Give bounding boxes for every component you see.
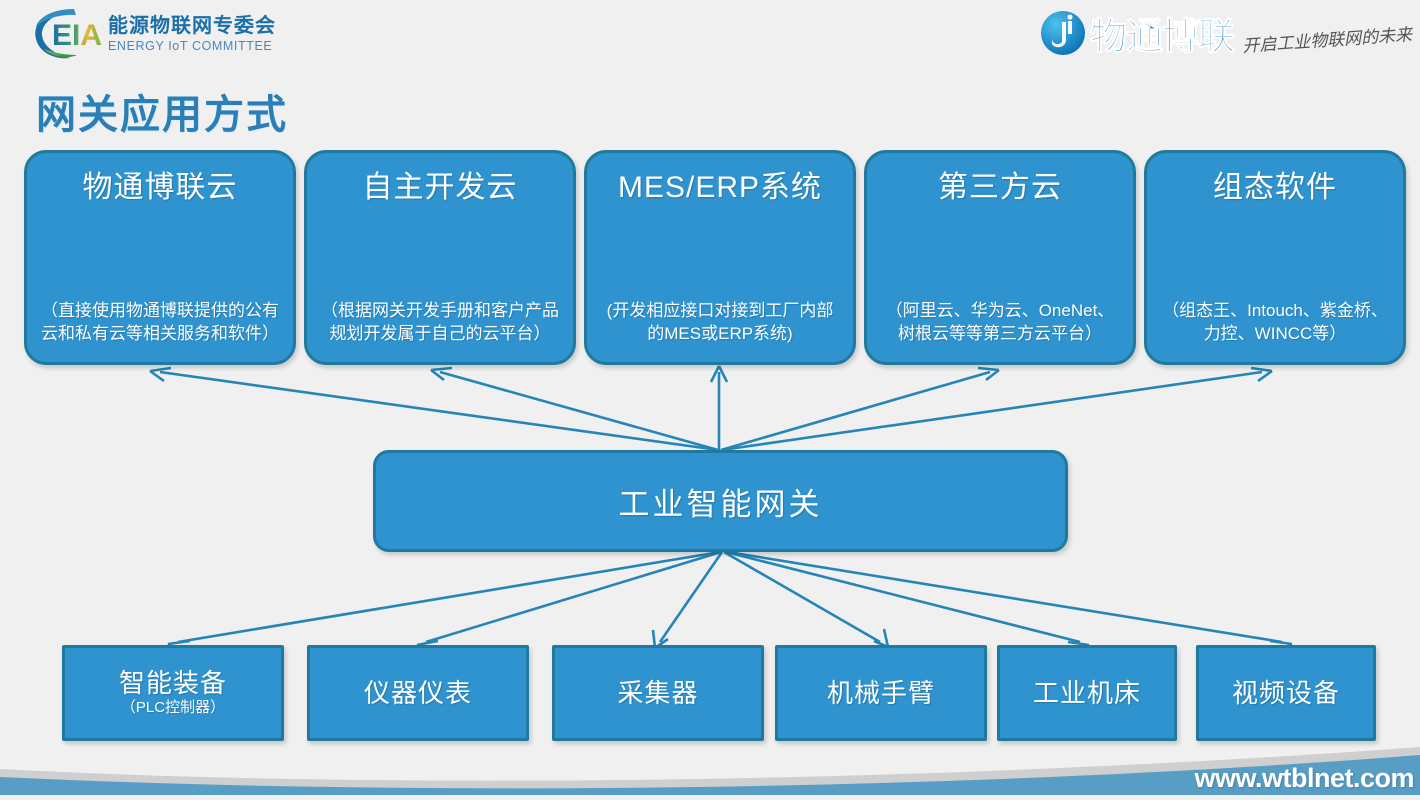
device-video-equipment[interactable]: 视频设备	[1196, 645, 1376, 741]
card-title: 第三方云	[938, 171, 1062, 206]
card-body: （根据网关开发手册和客户产品规划开发属于自己的云平台）	[315, 300, 565, 348]
gateway-application-diagram: 物通博联云 （直接使用物通博联提供的公有云和私有云等相关服务和软件） 自主开发云…	[0, 0, 1420, 795]
card-mes-erp-system[interactable]: MES/ERP系统 (开发相应接口对接到工厂内部的MES或ERP系统)	[584, 150, 856, 365]
card-body: （直接使用物通博联提供的公有云和私有云等相关服务和软件）	[35, 300, 285, 348]
center-node-industrial-gateway[interactable]: 工业智能网关	[373, 450, 1068, 552]
device-title: 工业机床	[1033, 679, 1141, 708]
footer-website-url: www.wtblnet.com	[1194, 763, 1414, 794]
card-title: 自主开发云	[363, 171, 518, 206]
device-data-collector[interactable]: 采集器	[552, 645, 764, 741]
device-smart-equipment[interactable]: 智能装备 （PLC控制器）	[62, 645, 284, 741]
device-instruments[interactable]: 仪器仪表	[307, 645, 529, 741]
center-node-title: 工业智能网关	[619, 479, 823, 524]
card-scada-software[interactable]: 组态软件 （组态王、Intouch、紫金桥、力控、WINCC等）	[1144, 150, 1406, 365]
card-title: 物通博联云	[83, 171, 238, 206]
device-title: 视频设备	[1232, 679, 1340, 708]
card-third-party-cloud[interactable]: 第三方云 （阿里云、华为云、OneNet、树根云等等第三方云平台）	[864, 150, 1136, 365]
card-title: 组态软件	[1213, 171, 1337, 206]
card-title: MES/ERP系统	[618, 171, 822, 206]
device-subtitle: （PLC控制器）	[121, 699, 225, 717]
device-title: 仪器仪表	[364, 679, 472, 708]
device-title: 机械手臂	[827, 679, 935, 708]
card-wtbl-cloud[interactable]: 物通博联云 （直接使用物通博联提供的公有云和私有云等相关服务和软件）	[24, 150, 296, 365]
card-body: （阿里云、华为云、OneNet、树根云等等第三方云平台）	[875, 300, 1125, 348]
device-title: 采集器	[617, 679, 698, 708]
page-footer: www.wtblnet.com	[0, 747, 1420, 795]
device-title: 智能装备	[119, 669, 227, 698]
device-machine-tool[interactable]: 工业机床	[997, 645, 1177, 741]
device-robotic-arm[interactable]: 机械手臂	[775, 645, 987, 741]
card-body: (开发相应接口对接到工厂内部的MES或ERP系统)	[595, 300, 845, 348]
card-body: （组态王、Intouch、紫金桥、力控、WINCC等）	[1155, 300, 1395, 348]
card-self-developed-cloud[interactable]: 自主开发云 （根据网关开发手册和客户产品规划开发属于自己的云平台）	[304, 150, 576, 365]
